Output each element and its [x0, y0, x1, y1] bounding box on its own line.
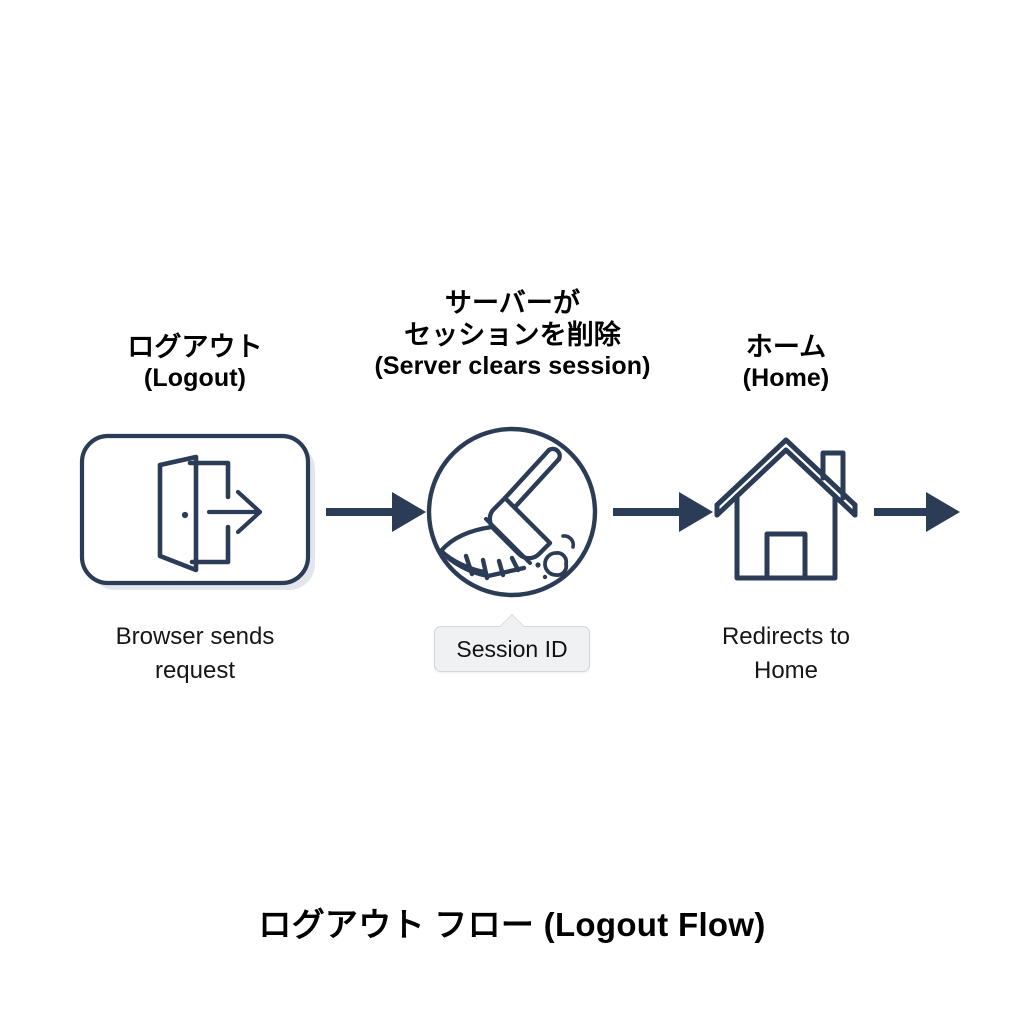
session-id-badge[interactable]: Session ID [434, 626, 590, 672]
step-heading-server-en: (Server clears session) [330, 352, 695, 382]
caption-redirect-line1: Redirects to [672, 620, 900, 654]
caption-browser-line2: request [70, 654, 320, 688]
arrow-server-to-home [613, 492, 713, 532]
badge-pointer-icon [500, 615, 524, 627]
step-heading-server-ja-line1: サーバーが [330, 288, 695, 320]
house-icon[interactable] [717, 440, 855, 578]
arrow-home-to-next [874, 492, 960, 532]
logout-step-box[interactable] [82, 436, 315, 590]
session-id-badge-label: Session ID [456, 636, 567, 663]
step-heading-server-ja-line2: セッションを削除 [330, 320, 695, 352]
caption-redirects-to-home: Redirects to Home [672, 620, 900, 688]
caption-browser-sends-request: Browser sends request [70, 620, 320, 688]
arrow-logout-to-server [326, 492, 426, 532]
step-heading-logout-ja: ログアウト [70, 332, 320, 364]
diagram-title: ログアウト フロー (Logout Flow) [0, 898, 1024, 946]
step-heading-home: ホーム (Home) [672, 332, 900, 393]
step-heading-home-ja: ホーム [672, 332, 900, 364]
step-heading-logout: ログアウト (Logout) [70, 332, 320, 393]
caption-redirect-line2: Home [672, 654, 900, 688]
diagram-canvas: ログアウト (Logout) サーバーが セッションを削除 (Server cl… [0, 0, 1024, 1024]
step-heading-logout-en: (Logout) [70, 364, 320, 394]
step-heading-server: サーバーが セッションを削除 (Server clears session) [330, 288, 695, 381]
server-step-circle[interactable] [429, 429, 595, 595]
caption-browser-line1: Browser sends [70, 620, 320, 654]
step-heading-home-en: (Home) [672, 364, 900, 394]
logout-flow-diagram [0, 0, 1024, 1024]
